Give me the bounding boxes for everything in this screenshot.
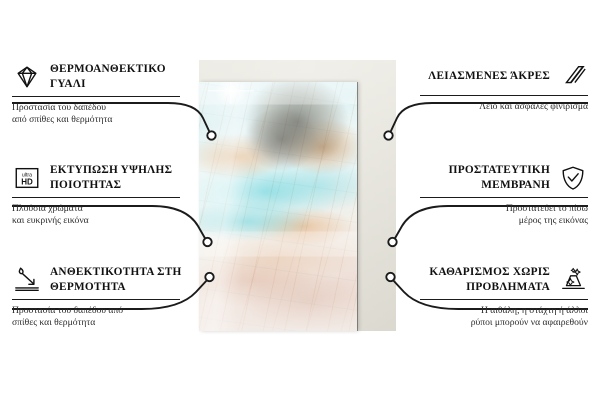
feature-subtitle: Πλούσια χρώματα και ευκρινής εικόνα: [12, 203, 194, 228]
feature-header: ΚΑΘΑΡΙΣΜΟΣ ΧΩΡΙΣ ΠΡΟΒΛΗΜΑΤΑ: [406, 265, 588, 294]
feature-subtitle: Η αιθάλη, η στάχτη ή άλλοι ρύποι μπορούν…: [406, 305, 588, 330]
svg-text:HD: HD: [21, 177, 33, 186]
feature-heat-resistant-glass[interactable]: ΘΕΡΜΟΑΝΘΕΚΤΙΚΟ ΓΥΑΛΙ Προστασία του δαπέδ…: [12, 62, 194, 127]
divider: [12, 197, 180, 198]
feature-title: ΛΕΙΑΣΜΕΝΕΣ ΆΚΡΕΣ: [406, 69, 550, 84]
feature-title: ΚΑΘΑΡΙΣΜΟΣ ΧΩΡΙΣ ΠΡΟΒΛΗΜΑΤΑ: [406, 265, 550, 294]
feature-header: ultra HD ΕΚΤΥΠΩΣΗ ΥΨΗΛΗΣ ΠΟΙΟΤΗΤΑΣ: [12, 163, 194, 192]
feature-subtitle: Λείο και ασφαλές φινίρισμα: [406, 101, 588, 113]
feature-polished-edges[interactable]: ΛΕΙΑΣΜΕΝΕΣ ΆΚΡΕΣ Λείο και ασφαλές φινίρι…: [406, 62, 588, 113]
feature-title: ΑΝΘΕΚΤΙΚΟΤΗΤΑ ΣΤΗ ΘΕΡΜΟΤΗΤΑ: [50, 265, 194, 294]
easy-cleaning-icon: [558, 266, 588, 294]
glass-reflection-overlay: [199, 82, 357, 331]
ultra-hd-icon: ultra HD: [12, 164, 42, 192]
feature-subtitle: Προστατεύει το πίσω μέρος της εικόνας: [406, 203, 588, 228]
diamond-icon: [12, 63, 42, 91]
glass-panel-product-image: [199, 82, 357, 331]
divider: [420, 197, 588, 198]
feature-subtitle: Προστασία του δαπέδου από σπίθες και θερ…: [12, 305, 194, 330]
heat-resistance-icon: [12, 266, 42, 294]
feature-subtitle: Προστασία του δαπέδου από σπίθες και θερ…: [12, 102, 194, 127]
feature-header: ΠΡΟΣΤΑΤΕΥΤΙΚΗ ΜΕΜΒΡΑΝΗ: [406, 163, 588, 192]
infographic-stage: ΘΕΡΜΟΑΝΘΕΚΤΙΚΟ ΓΥΑΛΙ Προστασία του δαπέδ…: [0, 0, 600, 400]
glass-glare-sparkle: [211, 82, 251, 106]
divider: [420, 299, 588, 300]
feature-title: ΠΡΟΣΤΑΤΕΥΤΙΚΗ ΜΕΜΒΡΑΝΗ: [406, 163, 550, 192]
divider: [12, 299, 180, 300]
feature-protective-membrane[interactable]: ΠΡΟΣΤΑΤΕΥΤΙΚΗ ΜΕΜΒΡΑΝΗ Προστατεύει το πί…: [406, 163, 588, 228]
shield-check-icon: [558, 164, 588, 192]
feature-heat-durability[interactable]: ΑΝΘΕΚΤΙΚΟΤΗΤΑ ΣΤΗ ΘΕΡΜΟΤΗΤΑ Προστασία το…: [12, 265, 194, 330]
polished-edges-icon: [558, 62, 588, 90]
feature-high-quality-print[interactable]: ultra HD ΕΚΤΥΠΩΣΗ ΥΨΗΛΗΣ ΠΟΙΟΤΗΤΑΣ Πλούσ…: [12, 163, 194, 228]
feature-easy-cleaning[interactable]: ΚΑΘΑΡΙΣΜΟΣ ΧΩΡΙΣ ΠΡΟΒΛΗΜΑΤΑ Η αιθάλη, η …: [406, 265, 588, 330]
feature-title: ΕΚΤΥΠΩΣΗ ΥΨΗΛΗΣ ΠΟΙΟΤΗΤΑΣ: [50, 163, 194, 192]
divider: [420, 95, 588, 96]
feature-header: ΛΕΙΑΣΜΕΝΕΣ ΆΚΡΕΣ: [406, 62, 588, 90]
feature-header: ΘΕΡΜΟΑΝΘΕΚΤΙΚΟ ΓΥΑΛΙ: [12, 62, 194, 91]
feature-header: ΑΝΘΕΚΤΙΚΟΤΗΤΑ ΣΤΗ ΘΕΡΜΟΤΗΤΑ: [12, 265, 194, 294]
feature-title: ΘΕΡΜΟΑΝΘΕΚΤΙΚΟ ΓΥΑΛΙ: [50, 62, 194, 91]
divider: [12, 96, 180, 97]
